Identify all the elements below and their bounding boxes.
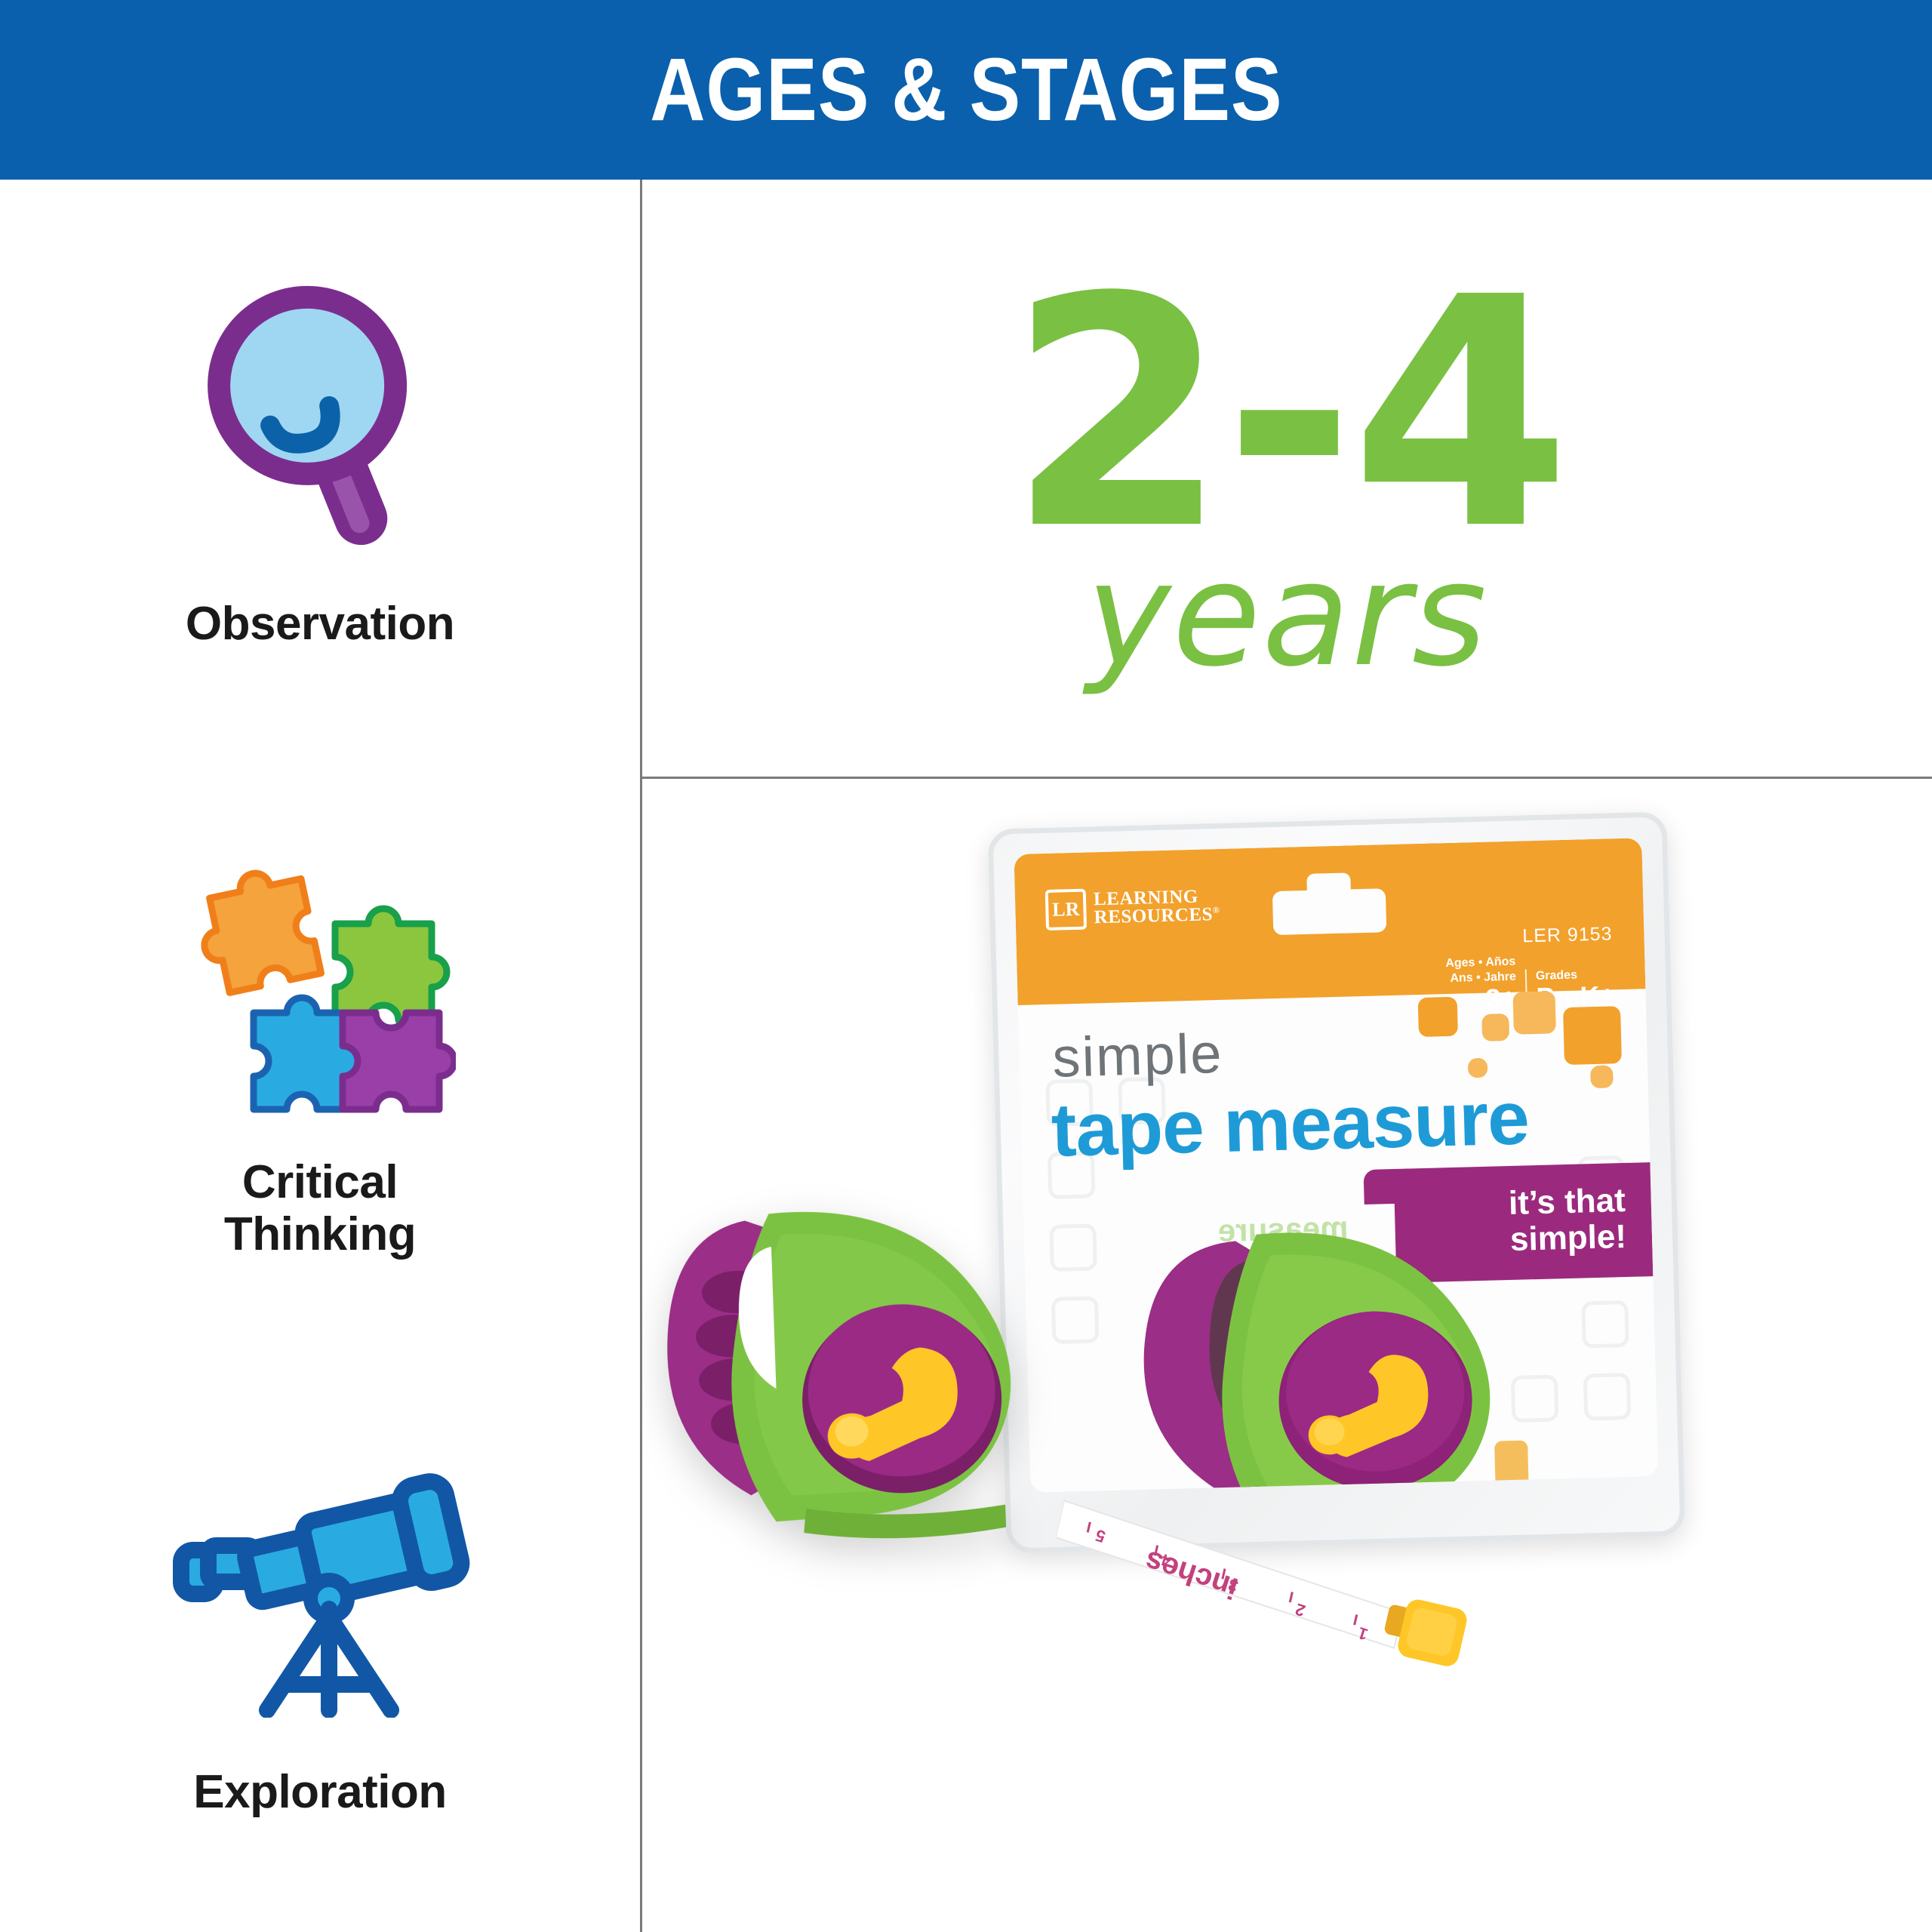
page-title: AGES & STAGES (650, 45, 1282, 134)
age-range: 2-4 (1008, 269, 1567, 561)
sku-code: LER 9153 (1522, 923, 1613, 947)
age-unit: years (1086, 543, 1488, 687)
skill-label: Observation (186, 598, 454, 650)
brand-name: LEARNINGRESOURCES® (1094, 887, 1220, 927)
loose-tape-measure (655, 1190, 1120, 1561)
product-subtitle: simple (1051, 1021, 1223, 1090)
package-header-band: LR LEARNINGRESOURCES® LER 9153 Ages • Añ… (1014, 838, 1645, 1005)
deco-square (1418, 997, 1458, 1037)
skill-item-exploration: Exploration (0, 1348, 640, 1932)
header-banner: AGES & STAGES (0, 0, 1932, 180)
packaged-tape-measure: measure (1121, 1203, 1552, 1493)
ages-and-stages-infographic: AGES & STAGES Observation (0, 0, 1932, 1932)
deco-square (1563, 1006, 1622, 1065)
registered-mark: ® (1213, 905, 1220, 915)
deco-square (1590, 1065, 1614, 1088)
brand-logo: LR LEARNINGRESOURCES® (1045, 885, 1220, 931)
brand-cube-icon: LR (1045, 889, 1087, 931)
telescope-icon (169, 1438, 471, 1740)
puzzle-pieces-icon (184, 829, 456, 1131)
skill-item-critical-thinking: Critical Thinking (0, 764, 640, 1348)
product-title: tape measure (1051, 1075, 1531, 1174)
hang-hole (1272, 888, 1386, 935)
age-panel: 2-4 years (642, 180, 1932, 777)
skill-label: Exploration (193, 1766, 447, 1818)
deco-square (1512, 991, 1555, 1034)
skills-column: Observation (0, 180, 640, 1932)
deco-square (1481, 1014, 1509, 1041)
skill-item-observation: Observation (0, 180, 640, 764)
deco-square (1468, 1058, 1488, 1078)
skill-label: Critical Thinking (224, 1156, 416, 1261)
product-photo-panel: LR LEARNINGRESOURCES® LER 9153 Ages • Añ… (642, 779, 1932, 1932)
svg-text:measure: measure (1217, 1210, 1349, 1249)
age-caption-line1: Ages • Años (1445, 955, 1516, 971)
magnifying-glass-icon (195, 270, 445, 572)
